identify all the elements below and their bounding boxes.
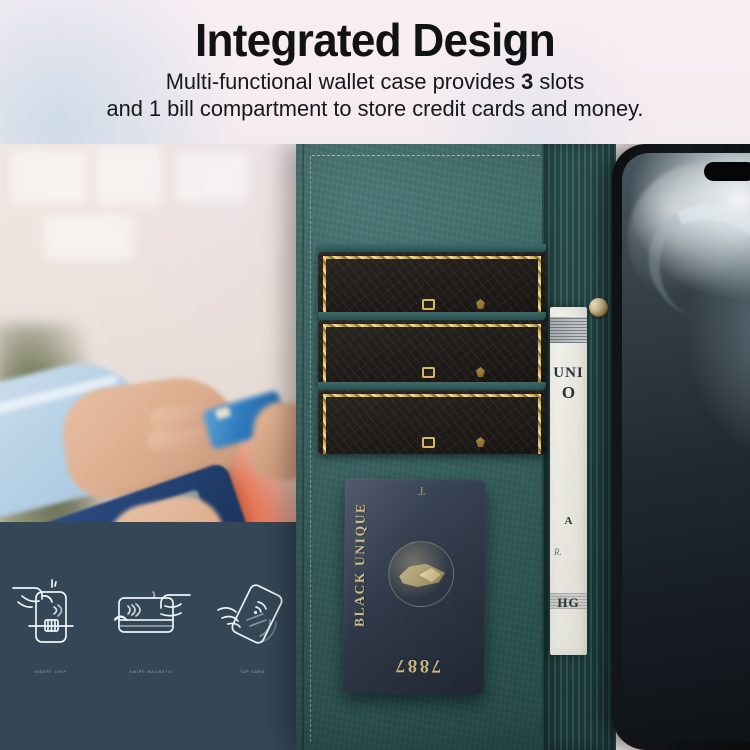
card-slot-1: [318, 252, 546, 316]
featured-credit-card: T BLACK UNIQUE 7887: [343, 478, 486, 694]
card-chip-icon: [422, 367, 435, 378]
page-subtitle: Multi-functional wallet case provides 3 …: [11, 68, 739, 122]
card-number: 7887: [393, 654, 441, 677]
banknote-text-top: UNI: [551, 365, 586, 382]
slot-count-highlight: 3: [521, 69, 533, 94]
blur-tile: [44, 214, 134, 260]
card-slot-3: [318, 390, 546, 454]
card-slot-edge: [318, 244, 546, 252]
banknote-in-compartment: UNI O A R. HG: [550, 307, 587, 655]
banknote-print-band: [550, 317, 587, 343]
panel-divider: [302, 144, 304, 750]
stitching-left: [310, 156, 311, 742]
card-slot-edge: [318, 312, 546, 320]
card-chip-icon: [422, 437, 435, 448]
blur-tile: [176, 152, 248, 202]
payment-method-label: TAP CARD: [240, 670, 265, 674]
banknote-text-bottom: HG: [551, 595, 586, 611]
payment-icons-row: INSERT CHIP: [0, 570, 303, 680]
lifestyle-photo: [0, 144, 303, 522]
blur-tile: [10, 150, 88, 204]
card-eagle-emblem-icon: [388, 541, 455, 608]
subtitle-line-2: and 1 bill compartment to store credit c…: [106, 96, 643, 121]
card-top-mark: T: [417, 483, 426, 498]
banknote-signature: R.: [554, 547, 562, 557]
card-chip-icon: [422, 299, 435, 310]
subtitle-line-1: Multi-functional wallet case provides 3 …: [166, 69, 585, 94]
payment-method-tap-card: TAP CARD: [202, 576, 303, 674]
wallet-case: T BLACK UNIQUE 7887 UNI O A R. HG: [296, 144, 616, 750]
payment-method-label: INSERT CHIP: [34, 670, 67, 674]
banknote-text-mid: O: [551, 383, 586, 403]
gold-snap-rivet: [589, 298, 608, 317]
phone-device: [612, 144, 750, 750]
payment-method-swipe-magnetic: SWIPE MAGNETIC: [101, 576, 202, 674]
tap-card-icon: [214, 576, 292, 650]
product-marketing-image: Integrated Design Multi-functional walle…: [0, 0, 750, 750]
payment-methods-band: INSERT CHIP: [0, 522, 303, 750]
photo-finger: [148, 429, 213, 451]
phone-screen: [622, 153, 750, 741]
banknote-text-letter: A: [551, 515, 586, 527]
page-title: Integrated Design: [15, 14, 735, 66]
stitching-top: [312, 155, 580, 156]
subtitle-text-a: Multi-functional wallet case provides: [166, 69, 521, 94]
swipe-magnetic-icon: [113, 576, 191, 650]
payment-method-insert-chip: INSERT CHIP: [0, 576, 101, 674]
payment-method-label: SWIPE MAGNETIC: [129, 670, 173, 674]
blur-tile: [96, 146, 162, 206]
card-slot-edge: [318, 382, 546, 390]
header-banner: Integrated Design Multi-functional walle…: [0, 0, 750, 144]
card-slot-2: [318, 320, 546, 384]
card-brand-name: BLACK UNIQUE: [352, 502, 369, 627]
subtitle-text-c: slots: [533, 69, 584, 94]
dynamic-island: [704, 162, 750, 181]
insert-chip-icon: [12, 576, 90, 650]
